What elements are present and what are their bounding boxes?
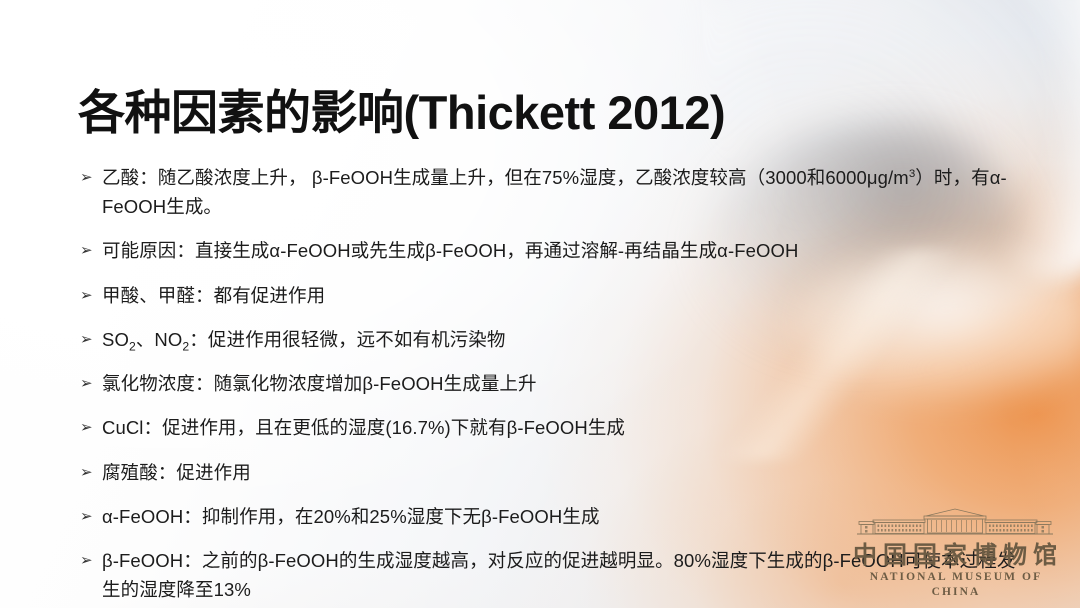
- logo-name-english: NATIONAL MUSEUM OF CHINA: [844, 570, 1066, 600]
- bullet-text: 腐殖酸：促进作用: [102, 462, 251, 483]
- bullet-item-humic-acid: ➢腐殖酸：促进作用: [80, 458, 1020, 487]
- bullet-arrow-icon: ➢: [80, 414, 93, 443]
- museum-logo: 中国国家博物馆 NATIONAL MUSEUM OF CHINA: [844, 505, 1066, 600]
- bullet-item-cucl: ➢CuCl：促进作用，且在更低的湿度(16.7%)下就有β-FeOOH生成: [80, 413, 1020, 442]
- bullet-text: SO2、NO2：促进作用很轻微，远不如有机污染物: [102, 329, 505, 350]
- bullet-item-so2-no2: ➢SO2、NO2：促进作用很轻微，远不如有机污染物: [80, 325, 1020, 354]
- bullet-item-acetic-acid: ➢乙酸：随乙酸浓度上升， β-FeOOH生成量上升，但在75%湿度，乙酸浓度较高…: [80, 163, 1020, 221]
- bullet-arrow-icon: ➢: [80, 237, 93, 266]
- bullet-arrow-icon: ➢: [80, 282, 93, 311]
- logo-name-chinese: 中国国家博物馆: [844, 542, 1066, 570]
- bullet-arrow-icon: ➢: [80, 164, 93, 193]
- bullet-item-possible-cause: ➢可能原因：直接生成α-FeOOH或先生成β-FeOOH，再通过溶解-再结晶生成…: [80, 236, 1020, 265]
- bullet-text: 氯化物浓度：随氯化物浓度增加β-FeOOH生成量上升: [102, 373, 537, 394]
- bullet-text: 甲酸、甲醛：都有促进作用: [102, 285, 325, 306]
- bullet-item-chloride-concentration: ➢氯化物浓度：随氯化物浓度增加β-FeOOH生成量上升: [80, 369, 1020, 398]
- bullet-text: 可能原因：直接生成α-FeOOH或先生成β-FeOOH，再通过溶解-再结晶生成α…: [102, 240, 798, 261]
- bullet-text: α-FeOOH：抑制作用，在20%和25%湿度下无β-FeOOH生成: [102, 506, 600, 527]
- page-title: 各种因素的影响(Thickett 2012): [78, 87, 725, 140]
- bullet-text: CuCl：促进作用，且在更低的湿度(16.7%)下就有β-FeOOH生成: [102, 417, 625, 438]
- bullet-item-formic-formaldehyde: ➢甲酸、甲醛：都有促进作用: [80, 281, 1020, 310]
- bullet-arrow-icon: ➢: [80, 459, 93, 488]
- bullet-arrow-icon: ➢: [80, 370, 93, 399]
- bullet-arrow-icon: ➢: [80, 503, 93, 532]
- museum-building-icon: [850, 505, 1060, 539]
- presentation-slide: 各种因素的影响(Thickett 2012) ➢乙酸：随乙酸浓度上升， β-Fe…: [0, 0, 1080, 608]
- bullet-arrow-icon: ➢: [80, 547, 93, 576]
- bullet-text: 乙酸：随乙酸浓度上升， β-FeOOH生成量上升，但在75%湿度，乙酸浓度较高（…: [102, 167, 1007, 217]
- bullet-arrow-icon: ➢: [80, 326, 93, 355]
